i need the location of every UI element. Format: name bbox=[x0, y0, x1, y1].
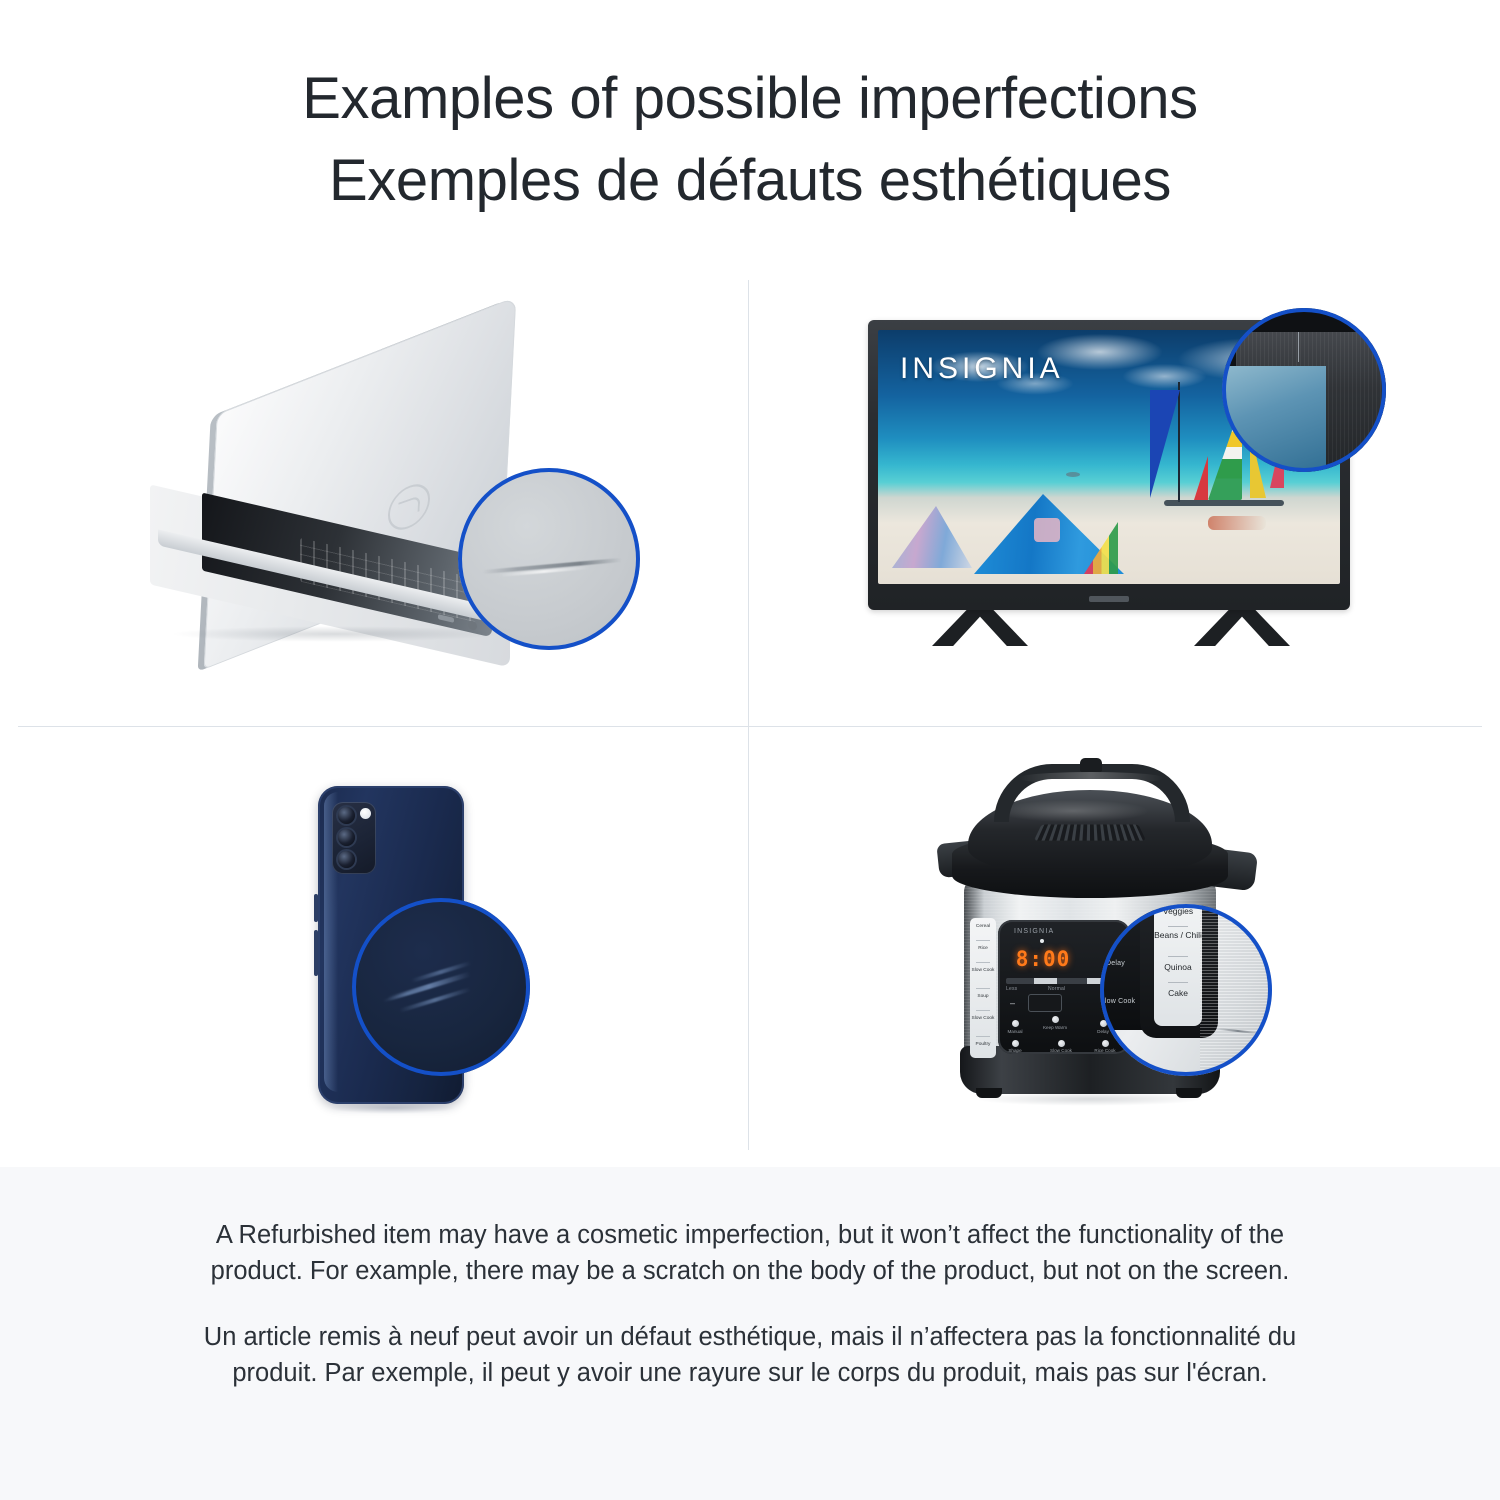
cooker-magnified-side-label: Slow Cook bbox=[1100, 998, 1135, 1005]
laptop-illustration bbox=[0, 258, 748, 726]
cooker-panel-button-label: Manual bbox=[1002, 1029, 1028, 1034]
smartphone-magnifier-circle bbox=[352, 898, 530, 1076]
tv-magnified-seam-defect bbox=[1298, 332, 1299, 362]
smartphone-graphic bbox=[280, 776, 500, 1156]
cooker-bar-label: Less bbox=[1006, 986, 1017, 992]
page-title-french: Exemples de défauts esthétiques bbox=[0, 140, 1500, 222]
cooker-magnified-separator bbox=[1168, 926, 1188, 927]
smartphone-volume-button bbox=[314, 930, 318, 976]
cooker-magnified-steel-texture bbox=[1200, 904, 1272, 1076]
cooker-left-button-strip[interactable]: Cereal Rice Slow Cook Soup Slow Cook Pou… bbox=[970, 918, 996, 1058]
cooker-magnifier-circle: Veggies Beans / Chili Quinoa Cake Delay … bbox=[1100, 904, 1272, 1076]
cooker-magnified-separator bbox=[1168, 982, 1188, 983]
cooker-pressure-valve-icon bbox=[1080, 758, 1102, 772]
tv-scene-hull bbox=[1164, 500, 1284, 506]
footer-description: A Refurbished item may have a cosmetic i… bbox=[0, 1167, 1500, 1500]
cooker-button-label[interactable]: Rice bbox=[970, 946, 996, 952]
tv-magnifier-circle bbox=[1222, 308, 1386, 472]
cooker-button-separator bbox=[976, 1010, 990, 1011]
cooker-panel-button-label: Keep Warm bbox=[1042, 1025, 1068, 1030]
cooker-button-label[interactable]: Cereal bbox=[970, 924, 996, 930]
refurbished-imperfections-infographic: Examples of possible imperfections Exemp… bbox=[0, 0, 1500, 1500]
camera-lens-icon bbox=[338, 807, 355, 824]
smartphone-power-button bbox=[314, 894, 318, 922]
camera-lens-icon bbox=[338, 829, 355, 846]
cooker-shadow bbox=[974, 1092, 1204, 1106]
pressure-cooker-panel: Cereal Rice Slow Cook Soup Slow Cook Pou… bbox=[750, 728, 1498, 1196]
tv-magnified-screen-edge bbox=[1222, 366, 1326, 472]
cooker-button-separator bbox=[976, 988, 990, 989]
cooker-button-separator bbox=[976, 940, 990, 941]
cooker-status-led-icon bbox=[1040, 939, 1044, 943]
cooker-button-label[interactable]: Poultry bbox=[970, 1042, 996, 1048]
product-example-grid: INSIGNIA bbox=[0, 258, 1500, 1166]
cooker-button-label[interactable]: Soup bbox=[970, 994, 996, 1000]
cooker-magnifier-content: Veggies Beans / Chili Quinoa Cake Delay … bbox=[1100, 904, 1272, 1076]
cooker-mini-display bbox=[1028, 994, 1062, 1012]
tv-scene-red-sail bbox=[1194, 456, 1208, 500]
cooker-magnified-side-label: Delay bbox=[1106, 960, 1125, 967]
camera-lens-icon bbox=[338, 851, 355, 868]
footer-paragraph-english: A Refurbished item may have a cosmetic i… bbox=[180, 1217, 1320, 1289]
cooker-magnified-separator bbox=[1168, 956, 1188, 957]
pressure-cooker-illustration: Cereal Rice Slow Cook Soup Slow Cook Pou… bbox=[750, 728, 1498, 1196]
page-title-english: Examples of possible imperfections bbox=[0, 58, 1500, 140]
cooker-button-separator bbox=[976, 1036, 990, 1037]
cooker-panel-button[interactable] bbox=[1058, 1040, 1065, 1047]
tv-bottom-bezel bbox=[868, 584, 1350, 610]
tv-scene-kite-left bbox=[892, 506, 972, 568]
pressure-cooker-graphic: Cereal Rice Slow Cook Soup Slow Cook Pou… bbox=[940, 758, 1340, 1158]
cooker-magnified-button-label: Veggies bbox=[1154, 906, 1202, 916]
cooker-panel-button-label: Slow Cook bbox=[1048, 1048, 1074, 1053]
tv-screen-brand-text: INSIGNIA bbox=[900, 352, 1064, 386]
television-panel: INSIGNIA bbox=[750, 258, 1498, 726]
smartphone-illustration bbox=[0, 728, 748, 1196]
tv-scene-beach-object bbox=[1208, 516, 1266, 530]
television-illustration: INSIGNIA bbox=[750, 258, 1498, 726]
smartphone-panel bbox=[0, 728, 748, 1196]
tv-logo-plate-icon bbox=[1089, 596, 1129, 602]
cooker-button-label[interactable]: Slow Cook bbox=[970, 1016, 996, 1022]
cooker-bar-label: Normal bbox=[1048, 986, 1065, 992]
horizontal-divider bbox=[18, 726, 1482, 727]
cooker-minus-button[interactable]: – bbox=[1010, 998, 1015, 1008]
laptop-panel bbox=[0, 258, 748, 726]
tv-leg-right bbox=[1194, 604, 1290, 646]
vertical-divider bbox=[748, 280, 749, 1150]
heading-block: Examples of possible imperfections Exemp… bbox=[0, 58, 1500, 222]
cooker-magnified-button-label: Beans / Chili bbox=[1154, 930, 1202, 940]
laptop-shadow bbox=[170, 626, 500, 642]
cooker-brand-text: INSIGNIA bbox=[1014, 928, 1054, 935]
tv-magnifier-content bbox=[1222, 308, 1386, 472]
cooker-button-label[interactable]: Slow Cook bbox=[970, 968, 996, 974]
cooker-button-separator bbox=[976, 962, 990, 963]
tv-scene-distant-boat bbox=[1066, 472, 1080, 477]
smartphone-shadow bbox=[328, 1102, 456, 1114]
cooker-display: 8:00 bbox=[1014, 946, 1072, 972]
cooker-panel-button[interactable] bbox=[1052, 1016, 1059, 1023]
cooker-panel-button[interactable] bbox=[1012, 1020, 1019, 1027]
cooker-lid-vent-icon bbox=[1034, 825, 1146, 841]
cooker-magnified-button-label: Cake bbox=[1154, 988, 1202, 998]
laptop-graphic bbox=[150, 358, 610, 658]
cooker-panel-button-label: Shape bbox=[1002, 1048, 1028, 1053]
television-graphic: INSIGNIA bbox=[858, 300, 1378, 680]
cooker-handle-gloss bbox=[1018, 772, 1164, 784]
tv-scene-kite-badge bbox=[1034, 518, 1060, 542]
camera-flash-icon bbox=[360, 808, 371, 819]
cooker-panel-button[interactable] bbox=[1012, 1040, 1019, 1047]
tv-leg-left bbox=[932, 604, 1028, 646]
cooker-magnified-button-label: Quinoa bbox=[1154, 962, 1202, 972]
footer-paragraph-french: Un article remis à neuf peut avoir un dé… bbox=[180, 1319, 1320, 1391]
tv-scene-blue-sail bbox=[1150, 390, 1185, 498]
laptop-magnifier-circle bbox=[458, 468, 640, 650]
